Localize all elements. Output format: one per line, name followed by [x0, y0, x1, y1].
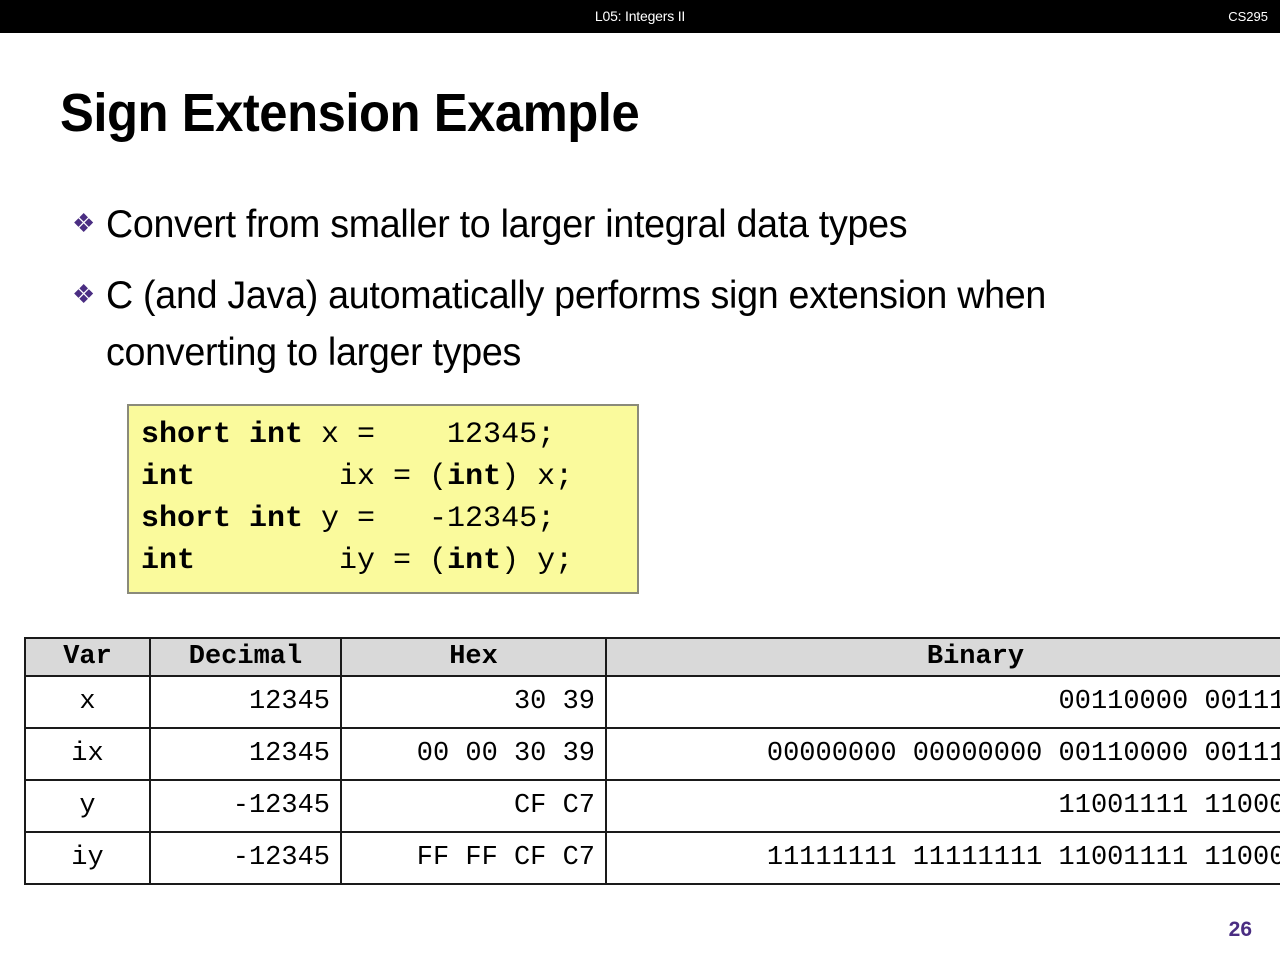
cell-binary: 00000000 00000000 00110000 00111001: [606, 728, 1280, 780]
cell-decimal: -12345: [150, 780, 341, 832]
cell-binary: 11111111 11111111 11001111 11000111: [606, 832, 1280, 884]
code-text: ix = (: [195, 460, 447, 494]
course-code: CS295: [1228, 0, 1268, 33]
cell-binary: 11001111 11000111: [606, 780, 1280, 832]
code-line-4: int iy = (int) y;: [141, 540, 637, 582]
lecture-title: L05: Integers II: [0, 0, 1280, 33]
table-header: Var Decimal Hex Binary: [25, 638, 1280, 676]
cell-hex: 30 39: [341, 676, 606, 728]
cell-hex: 00 00 30 39: [341, 728, 606, 780]
cell-binary: 00110000 00111001: [606, 676, 1280, 728]
diamond-bullet-icon: ❖: [60, 196, 106, 250]
list-item: ❖ Convert from smaller to larger integra…: [60, 196, 1220, 253]
list-item-text: Convert from smaller to larger integral …: [106, 196, 1181, 253]
code-keyword: int: [141, 544, 195, 578]
table-header-row: Var Decimal Hex Binary: [25, 638, 1280, 676]
code-text: x = 12345;: [303, 418, 555, 452]
code-keyword: short int: [141, 418, 303, 452]
page-number: 26: [1229, 918, 1252, 942]
page-title: Sign Extension Example: [60, 82, 639, 144]
code-keyword: int: [447, 544, 501, 578]
code-text: iy = (: [195, 544, 447, 578]
diamond-bullet-icon: ❖: [60, 267, 106, 321]
table-row: iy -12345 FF FF CF C7 11111111 11111111 …: [25, 832, 1280, 884]
list-item: ❖ C (and Java) automatically performs si…: [60, 267, 1220, 381]
code-line-2: int ix = (int) x;: [141, 456, 637, 498]
code-keyword: int: [447, 460, 501, 494]
cell-hex: CF C7: [341, 780, 606, 832]
cell-var: iy: [25, 832, 150, 884]
cell-hex: FF FF CF C7: [341, 832, 606, 884]
table-row: ix 12345 00 00 30 39 00000000 00000000 0…: [25, 728, 1280, 780]
code-line-3: short int y = -12345;: [141, 498, 637, 540]
code-block: short int x = 12345; int ix = (int) x; s…: [127, 404, 639, 594]
code-keyword: short int: [141, 502, 303, 536]
column-header-hex: Hex: [341, 638, 606, 676]
column-header-binary: Binary: [606, 638, 1280, 676]
cell-var: ix: [25, 728, 150, 780]
cell-var: y: [25, 780, 150, 832]
code-keyword: int: [141, 460, 195, 494]
table-row: x 12345 30 39 00110000 00111001: [25, 676, 1280, 728]
cell-var: x: [25, 676, 150, 728]
code-text: y = -12345;: [303, 502, 555, 536]
slide-header-bar: L05: Integers II CS295: [0, 0, 1280, 33]
code-line-1: short int x = 12345;: [141, 414, 637, 456]
code-text: ) x;: [501, 460, 573, 494]
table-row: y -12345 CF C7 11001111 11000111: [25, 780, 1280, 832]
bullet-list: ❖ Convert from smaller to larger integra…: [60, 196, 1220, 395]
column-header-var: Var: [25, 638, 150, 676]
cell-decimal: -12345: [150, 832, 341, 884]
code-text: ) y;: [501, 544, 573, 578]
sign-extension-table: Var Decimal Hex Binary x 12345 30 39 001…: [24, 637, 1280, 885]
cell-decimal: 12345: [150, 676, 341, 728]
clipped-text-artifact: [127, 604, 639, 618]
cell-decimal: 12345: [150, 728, 341, 780]
column-header-decimal: Decimal: [150, 638, 341, 676]
list-item-text: C (and Java) automatically performs sign…: [106, 267, 1181, 381]
table-body: x 12345 30 39 00110000 00111001 ix 12345…: [25, 676, 1280, 884]
